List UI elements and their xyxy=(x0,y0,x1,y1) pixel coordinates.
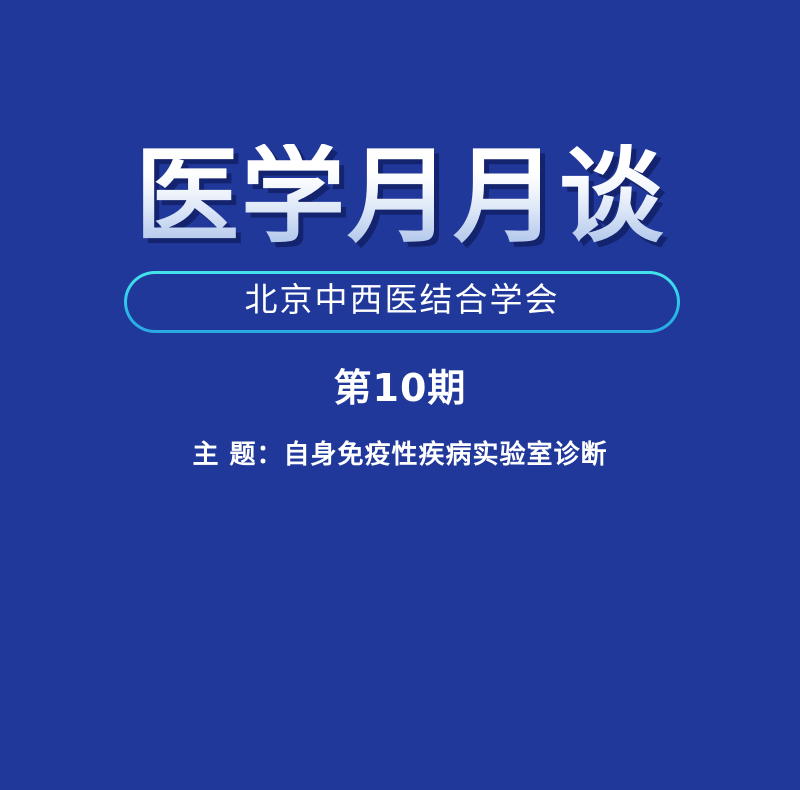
topic-container: 主 题：自身免疫性疾病实验室诊断 xyxy=(0,440,800,471)
issue-container: 第10期 xyxy=(0,368,800,410)
page-title: 医学月月谈 xyxy=(135,144,665,248)
topic-line: 主 题：自身免疫性疾病实验室诊断 xyxy=(0,440,800,471)
organization-pill: 北京中西医结合学会 xyxy=(124,271,680,333)
main-title-container: 医学月月谈 xyxy=(0,132,800,260)
organization-name: 北京中西医结合学会 xyxy=(245,285,560,318)
issue-number: 第10期 xyxy=(0,368,800,410)
poster-canvas: 医学月月谈 北京中西医结合学会 第10期 主 题：自身免疫性疾病实验室诊断 xyxy=(0,0,800,790)
organization-pill-inner: 北京中西医结合学会 xyxy=(127,274,677,330)
